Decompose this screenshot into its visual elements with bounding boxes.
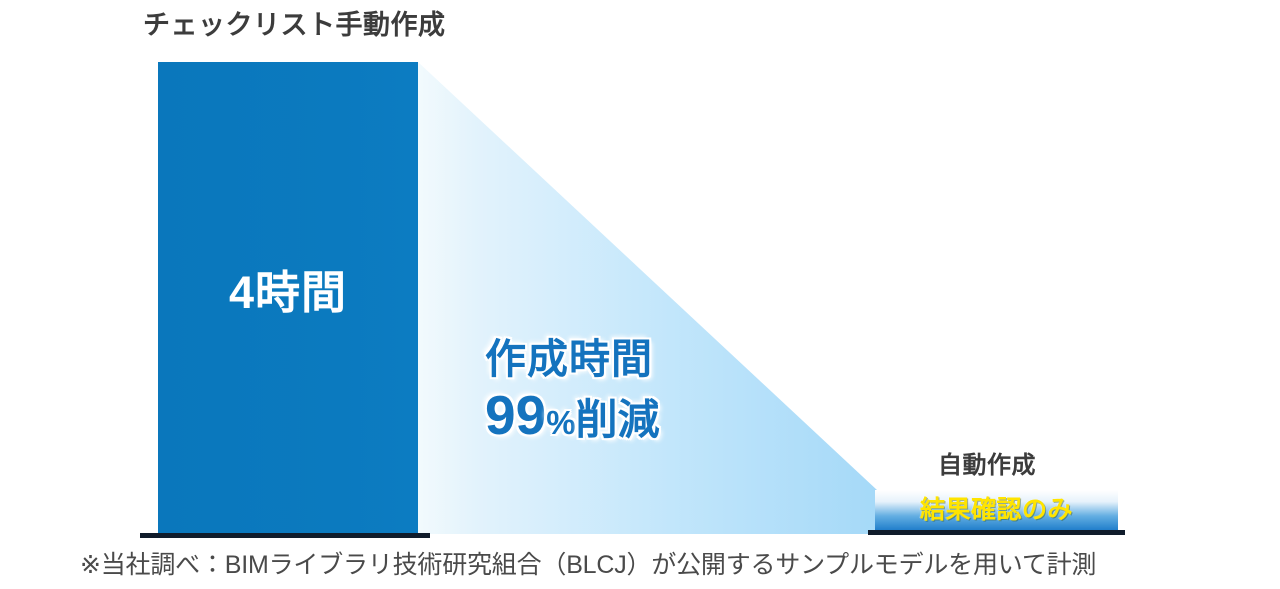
callout-percent-sign: % bbox=[546, 404, 575, 441]
manual-bar-value-label: 4時間 bbox=[158, 270, 418, 315]
infographic-canvas: チェックリスト手動作成 4時間 作成時間 99%削減 自動作成 結果確認のみ ※… bbox=[0, 0, 1280, 589]
auto-bar-title: 自動作成 bbox=[938, 454, 1036, 478]
reduction-callout: 作成時間 99%削減 bbox=[485, 338, 660, 443]
callout-percent-number: 99 bbox=[485, 384, 546, 446]
manual-bar-title: チェックリスト手動作成 bbox=[143, 12, 446, 39]
baseline-left-shape bbox=[140, 533, 430, 538]
callout-heading: 作成時間 bbox=[485, 338, 660, 381]
baseline-right-shape bbox=[868, 530, 1125, 535]
transition-wedge-shape bbox=[418, 62, 877, 534]
source-footnote: ※当社調べ：BIMライブラリ技術研究組合（BLCJ）が公開するサンプルモデルを用… bbox=[80, 553, 1096, 578]
callout-reduction-word: 削減 bbox=[576, 396, 660, 443]
callout-percentage-line: 99%削減 bbox=[485, 388, 660, 443]
auto-bar-value-label: 結果確認のみ bbox=[875, 498, 1118, 523]
